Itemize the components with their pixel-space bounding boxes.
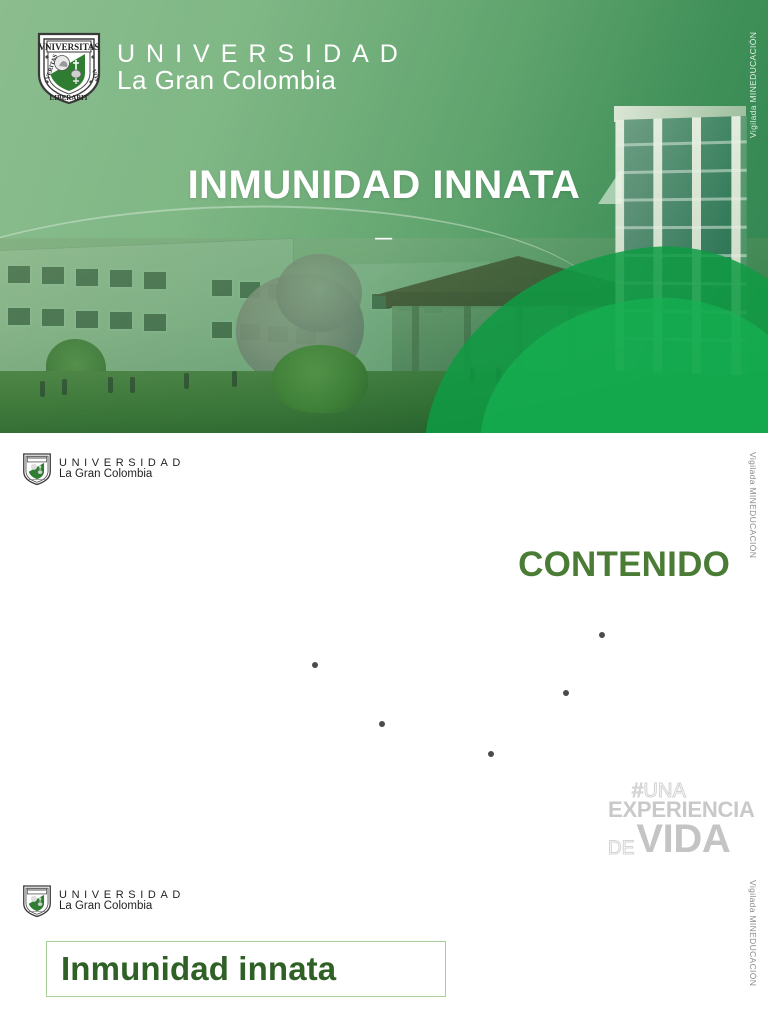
content-bullet-dot <box>563 690 569 696</box>
logo-wordmark: UNIVERSIDAD La Gran Colombia <box>59 890 185 913</box>
university-shield-icon <box>22 452 52 486</box>
slide-1-subtitle: — <box>0 228 768 248</box>
slide-1-title: INMUNIDAD INNATA <box>0 163 768 208</box>
svg-text:LIBERABIT: LIBERABIT <box>50 94 89 102</box>
slide-1-cover: VNIVERSITAS LIBERABIT VERITAS VOS UNIVER… <box>0 0 768 433</box>
section-title-text: Inmunidad innata <box>61 950 336 988</box>
logo-line-universidad: UNIVERSIDAD <box>117 42 409 67</box>
svg-text:VNIVERSITAS: VNIVERSITAS <box>39 42 100 52</box>
logo-line-universidad: UNIVERSIDAD <box>59 458 185 469</box>
contenido-heading: CONTENIDO <box>0 545 730 585</box>
content-bullet-dot <box>599 632 605 638</box>
content-bullet-dot <box>488 751 494 757</box>
section-title-box: Inmunidad innata <box>46 941 446 997</box>
university-shield-icon: VNIVERSITAS LIBERABIT VERITAS VOS <box>35 30 103 106</box>
logo-wordmark: UNIVERSIDAD La Gran Colombia <box>59 458 185 481</box>
accreditation-label-slide-3: Vigilada MINEDUCACIÓN <box>748 880 758 986</box>
university-logo-slide-2: UNIVERSIDAD La Gran Colombia <box>22 452 185 486</box>
university-shield-icon <box>22 884 52 918</box>
university-logo-header: VNIVERSITAS LIBERABIT VERITAS VOS UNIVER… <box>35 30 409 106</box>
accreditation-label-slide-1: Vigilada MINEDUCACIÓN <box>748 32 758 138</box>
university-logo-slide-3: UNIVERSIDAD La Gran Colombia <box>22 884 185 918</box>
content-bullet-dot <box>379 721 385 727</box>
watermark-line-de: DE <box>608 840 634 857</box>
watermark-line-vida: VIDA <box>636 821 730 858</box>
logo-line-universidad: UNIVERSIDAD <box>59 890 185 901</box>
presentation-page: VNIVERSITAS LIBERABIT VERITAS VOS UNIVER… <box>0 0 768 1024</box>
logo-line-la-gran-colombia: La Gran Colombia <box>59 469 185 481</box>
logo-line-la-gran-colombia: La Gran Colombia <box>59 901 185 913</box>
content-bullet-dot <box>312 662 318 668</box>
logo-line-la-gran-colombia: La Gran Colombia <box>117 67 409 94</box>
logo-wordmark: UNIVERSIDAD La Gran Colombia <box>117 42 409 94</box>
accreditation-label-slide-2: Vigilada MINEDUCACIÓN <box>748 452 758 558</box>
experiencia-de-vida-watermark: #UNA EXPERIENCIA DEVIDA <box>608 782 750 857</box>
